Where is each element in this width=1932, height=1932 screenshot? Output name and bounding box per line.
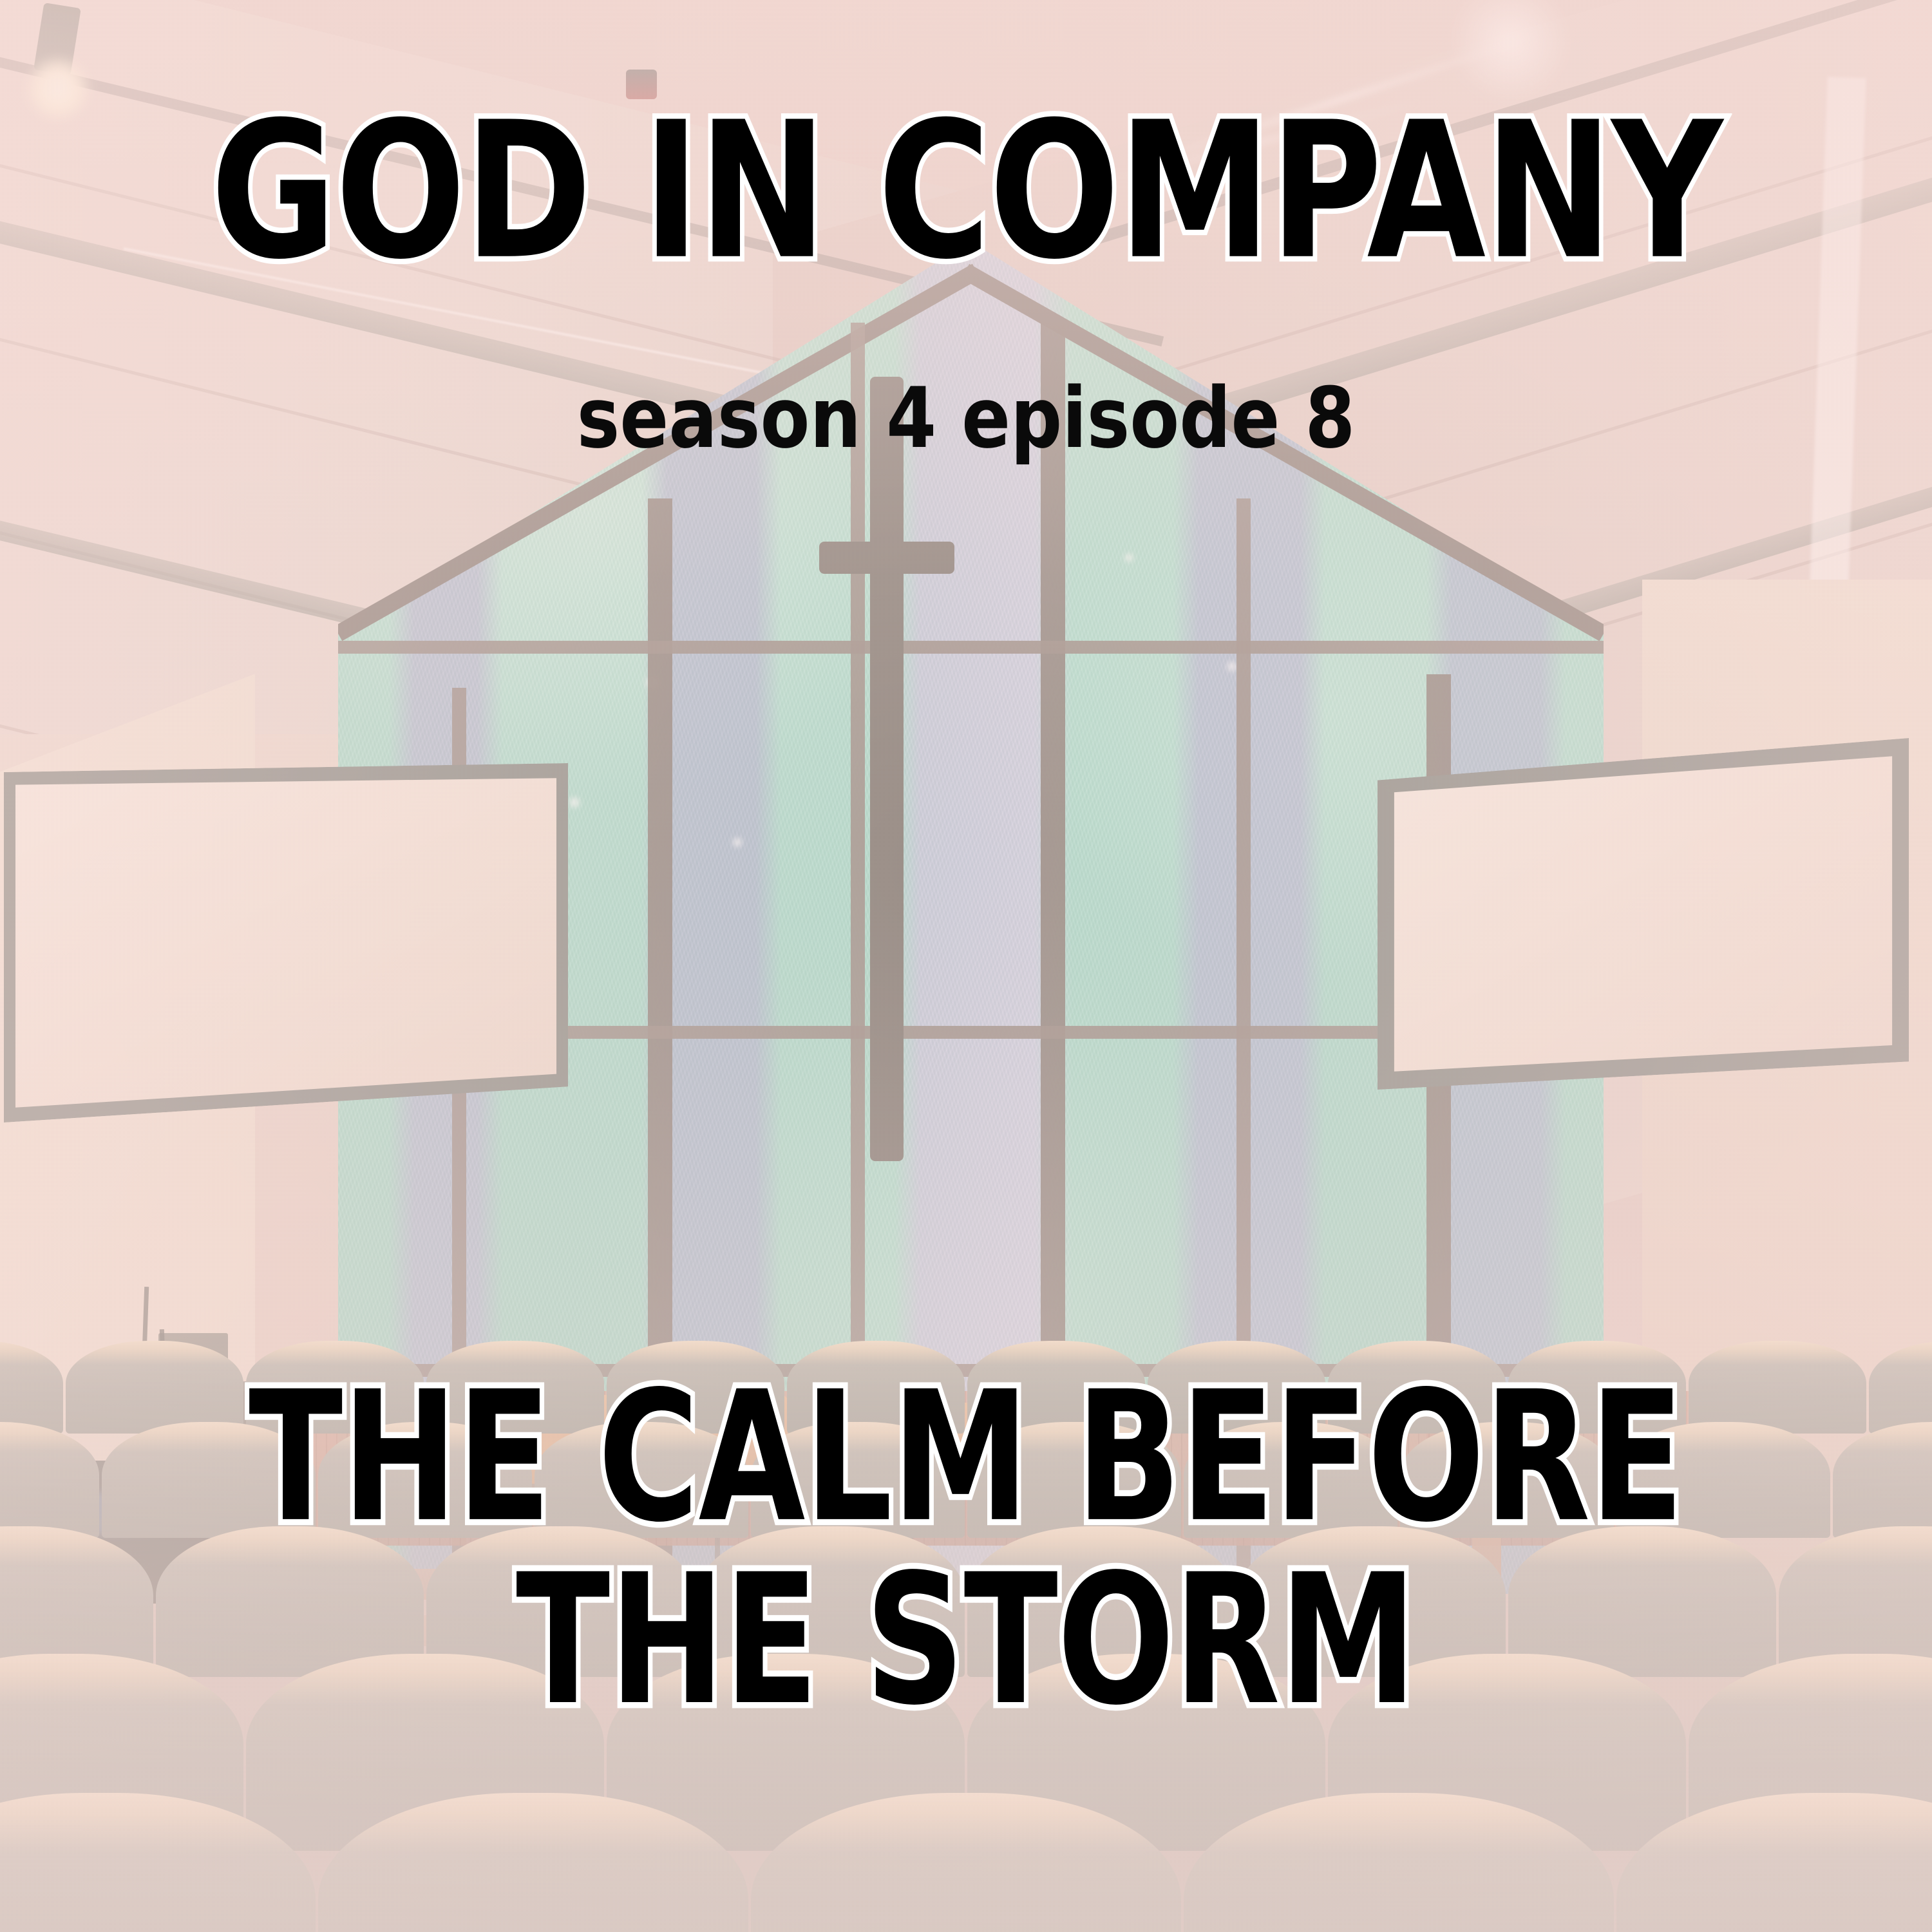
cover-text-layer: GOD IN COMPANY season 4 episode 8 THE CA… (0, 0, 1932, 1932)
show-title: GOD IN COMPANY (0, 98, 1932, 287)
podcast-cover-art: GOD IN COMPANY season 4 episode 8 THE CA… (0, 0, 1932, 1932)
episode-title: THE CALM BEFORE THE STORM (0, 1366, 1932, 1732)
season-episode-label: season 4 episode 8 (0, 377, 1932, 460)
episode-title-line-1: THE CALM BEFORE (0, 1366, 1932, 1549)
episode-title-line-2: THE STORM (0, 1549, 1932, 1732)
